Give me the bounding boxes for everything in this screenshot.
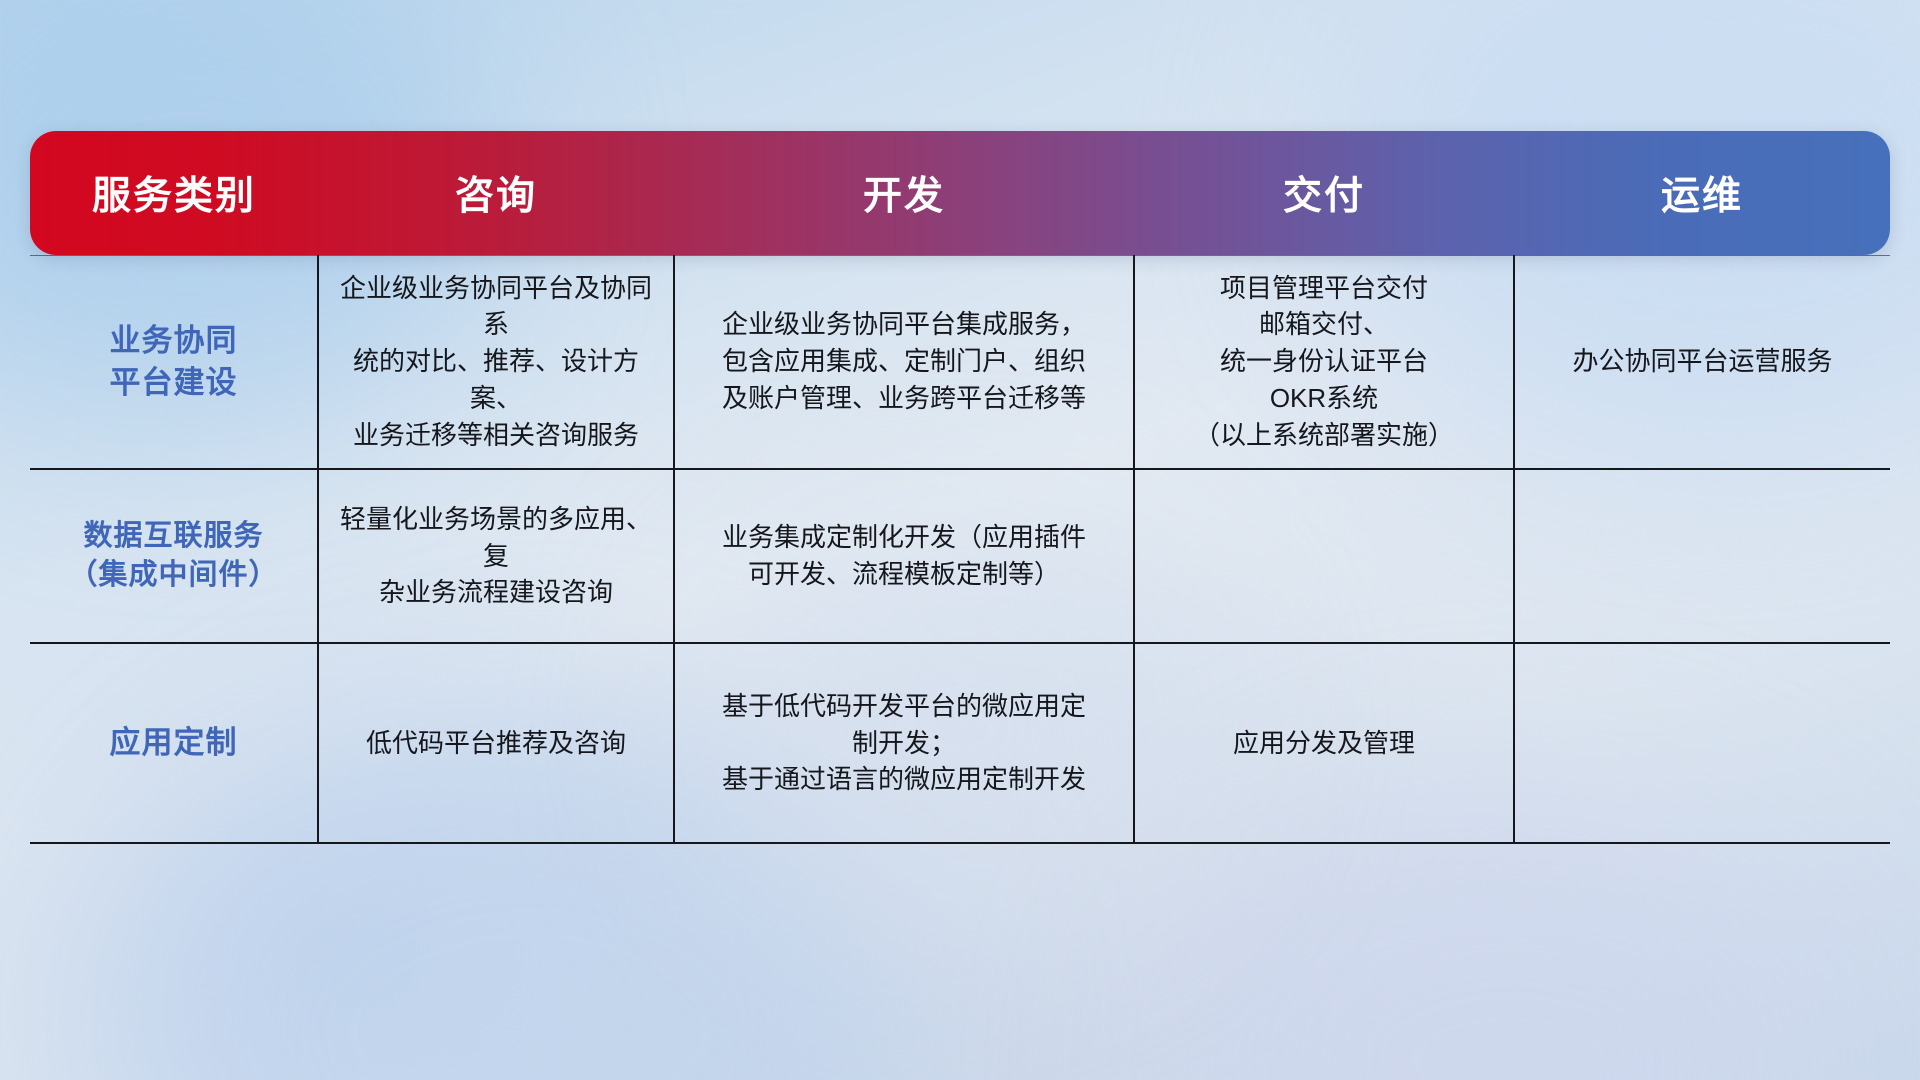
cell-text: 轻量化业务场景的多应用、复 杂业务流程建设咨询 (337, 501, 655, 612)
service-matrix-table: 服务类别 咨询 开发 交付 运维 业务协同 平台建设 企业级业务协同平台及协同系… (30, 131, 1890, 844)
cell-text: 业务集成定制化开发（应用插件 可开发、流程模板定制等） (693, 519, 1115, 593)
table-header: 服务类别 咨询 开发 交付 运维 (30, 131, 1890, 255)
service-matrix-table-wrap: 服务类别 咨询 开发 交付 运维 业务协同 平台建设 企业级业务协同平台及协同系… (30, 131, 1890, 844)
header-cell-operations: 运维 (1514, 131, 1890, 255)
cell-development-row2: 业务集成定制化开发（应用插件 可开发、流程模板定制等） (674, 469, 1134, 643)
table-row: 业务协同 平台建设 企业级业务协同平台及协同系 统的对比、推荐、设计方案、 业务… (30, 255, 1890, 469)
cell-consulting-row3: 低代码平台推荐及咨询 (318, 643, 674, 843)
cell-delivery-row2 (1134, 469, 1514, 643)
cell-text: 业务协同 平台建设 (48, 320, 299, 404)
cell-operations-row2 (1514, 469, 1890, 643)
table-header-row: 服务类别 咨询 开发 交付 运维 (30, 131, 1890, 255)
cell-development-row3: 基于低代码开发平台的微应用定 制开发； 基于通过语言的微应用定制开发 (674, 643, 1134, 843)
cell-text: 数据互联服务 （集成中间件） (48, 517, 299, 595)
cell-delivery-row3: 应用分发及管理 (1134, 643, 1514, 843)
header-cell-development: 开发 (674, 131, 1134, 255)
cell-text: 项目管理平台交付 邮箱交付、 统一身份认证平台 OKR系统 （以上系统部署实施） (1153, 270, 1495, 455)
cell-text: 基于低代码开发平台的微应用定 制开发； 基于通过语言的微应用定制开发 (693, 688, 1115, 799)
cell-consulting-row1: 企业级业务协同平台及协同系 统的对比、推荐、设计方案、 业务迁移等相关咨询服务 (318, 255, 674, 469)
cell-delivery-row1: 项目管理平台交付 邮箱交付、 统一身份认证平台 OKR系统 （以上系统部署实施） (1134, 255, 1514, 469)
header-cell-delivery: 交付 (1134, 131, 1514, 255)
cell-category-row1: 业务协同 平台建设 (30, 255, 318, 469)
cell-text: 企业级业务协同平台及协同系 统的对比、推荐、设计方案、 业务迁移等相关咨询服务 (337, 270, 655, 455)
cell-text: 低代码平台推荐及咨询 (337, 725, 655, 762)
cell-consulting-row2: 轻量化业务场景的多应用、复 杂业务流程建设咨询 (318, 469, 674, 643)
table-row: 应用定制 低代码平台推荐及咨询 基于低代码开发平台的微应用定 制开发； 基于通过… (30, 643, 1890, 843)
cell-text: 应用分发及管理 (1153, 725, 1495, 762)
cell-development-row1: 企业级业务协同平台集成服务， 包含应用集成、定制门户、组织 及账户管理、业务跨平… (674, 255, 1134, 469)
cell-category-row3: 应用定制 (30, 643, 318, 843)
cell-category-row2: 数据互联服务 （集成中间件） (30, 469, 318, 643)
table-body: 业务协同 平台建设 企业级业务协同平台及协同系 统的对比、推荐、设计方案、 业务… (30, 255, 1890, 843)
table-row: 数据互联服务 （集成中间件） 轻量化业务场景的多应用、复 杂业务流程建设咨询 业… (30, 469, 1890, 643)
header-cell-service-category: 服务类别 (30, 131, 318, 255)
cell-text: 应用定制 (48, 722, 299, 764)
cell-operations-row1: 办公协同平台运营服务 (1514, 255, 1890, 469)
cell-text: 办公协同平台运营服务 (1533, 343, 1872, 380)
header-cell-consulting: 咨询 (318, 131, 674, 255)
cell-text: 企业级业务协同平台集成服务， 包含应用集成、定制门户、组织 及账户管理、业务跨平… (693, 306, 1115, 417)
slide-canvas: 服务类别 咨询 开发 交付 运维 业务协同 平台建设 企业级业务协同平台及协同系… (0, 0, 1920, 1080)
cell-operations-row3 (1514, 643, 1890, 843)
